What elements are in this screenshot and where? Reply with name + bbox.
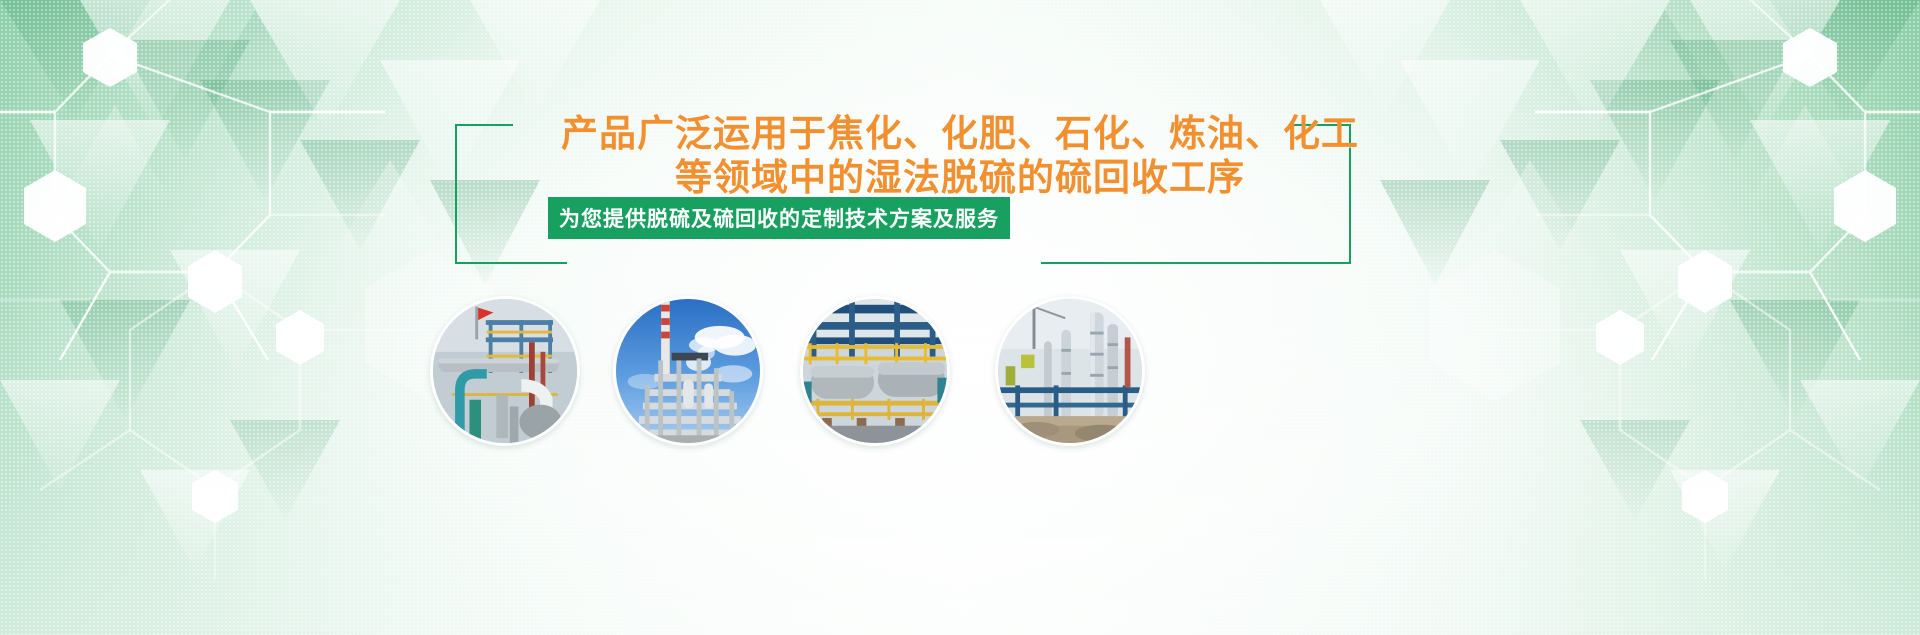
photo-3-image — [803, 299, 947, 443]
headline: 产品广泛运用于焦化、化肥、石化、炼油、化工 等领域中的湿法脱硫的硫回收工序 — [0, 112, 1920, 200]
bracket-bottom-left-segment — [455, 262, 567, 264]
headline-line-2: 等领域中的湿法脱硫的硫回收工序 — [0, 156, 1920, 200]
photo-refinery-towers[interactable] — [995, 296, 1145, 446]
promo-banner: 产品广泛运用于焦化、化肥、石化、炼油、化工 等领域中的湿法脱硫的硫回收工序 为您… — [0, 0, 1920, 635]
photo-plant-stack[interactable] — [613, 296, 763, 446]
photo-4-image — [998, 299, 1142, 443]
photo-horizontal-tanks[interactable] — [800, 296, 950, 446]
bracket-bottom-right-segment — [1041, 262, 1351, 264]
subtitle-bar: 为您提供脱硫及硫回收的定制技术方案及服务 — [548, 197, 1010, 239]
photo-1-image — [433, 299, 577, 443]
photo-desulfurization-pipework[interactable] — [430, 296, 580, 446]
photo-strip — [0, 296, 1920, 446]
banner-content: 产品广泛运用于焦化、化肥、石化、炼油、化工 等领域中的湿法脱硫的硫回收工序 为您… — [0, 0, 1920, 635]
headline-line-1: 产品广泛运用于焦化、化肥、石化、炼油、化工 — [0, 112, 1920, 156]
photo-2-image — [616, 299, 760, 443]
subtitle-text: 为您提供脱硫及硫回收的定制技术方案及服务 — [559, 203, 999, 233]
